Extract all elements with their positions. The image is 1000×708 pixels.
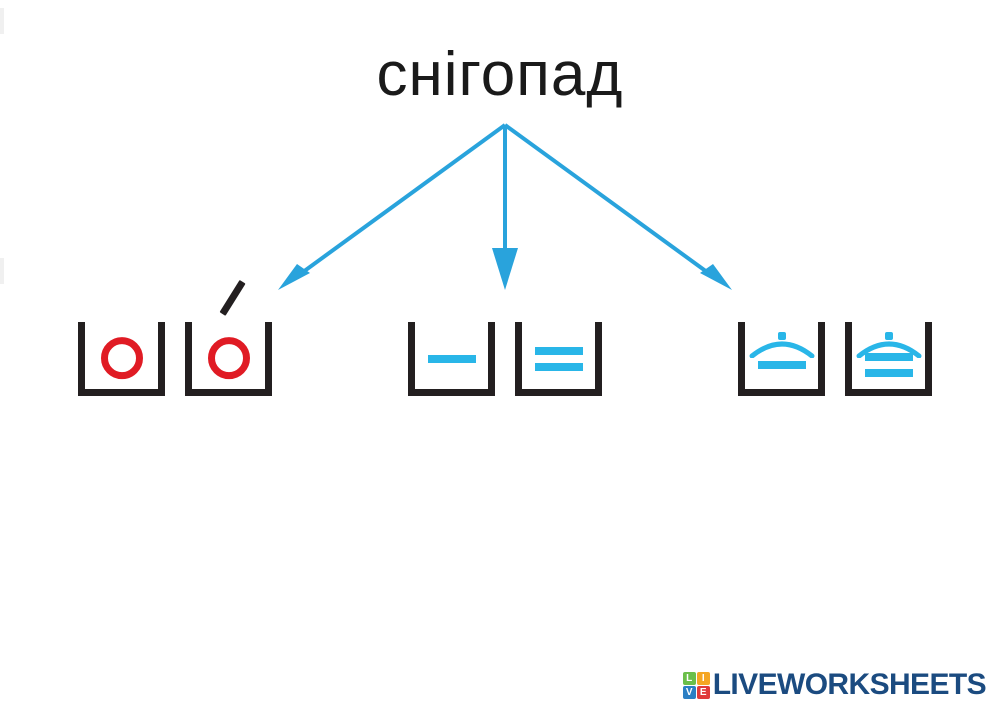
worksheet-page: снігопад [0,0,1000,708]
stress-accent-icon [220,280,246,316]
logo-tile-v: V [683,686,696,699]
logo-tile-l: L [683,672,696,685]
sound-scheme [0,0,1000,708]
sound-slot-hard-1[interactable] [408,322,495,396]
logo-tile-e: E [697,686,710,699]
sound-slot-vowel-2[interactable] [185,322,272,396]
blue-bar [758,361,806,369]
single-blue-line-icon [758,361,806,369]
blue-bar [428,355,476,363]
liveworksheets-logo[interactable]: L I V E LIVEWORKSHEETS [683,670,986,700]
group-vowel-sounds [78,322,272,396]
blue-bar [865,369,913,377]
group-hard-consonant-sounds [408,322,602,396]
double-blue-line-icon [535,347,583,371]
logo-wordmark: LIVEWORKSHEETS [713,670,986,700]
red-circle-vowel-icon [208,337,250,379]
softness-arc-icon [749,332,815,358]
logo-tiles: L I V E [683,672,710,699]
sound-slot-soft-1[interactable] [738,322,825,396]
sound-slot-vowel-1[interactable] [78,322,165,396]
double-blue-line-icon [865,353,913,377]
logo-tile-i: I [697,672,710,685]
single-blue-line-icon [428,355,476,363]
blue-bar [535,363,583,371]
group-soft-consonant-sounds [738,322,932,396]
blue-bar [865,353,913,361]
sound-slot-soft-2[interactable] [845,322,932,396]
red-circle-vowel-icon [101,337,143,379]
sound-slot-hard-2[interactable] [515,322,602,396]
blue-bar [535,347,583,355]
